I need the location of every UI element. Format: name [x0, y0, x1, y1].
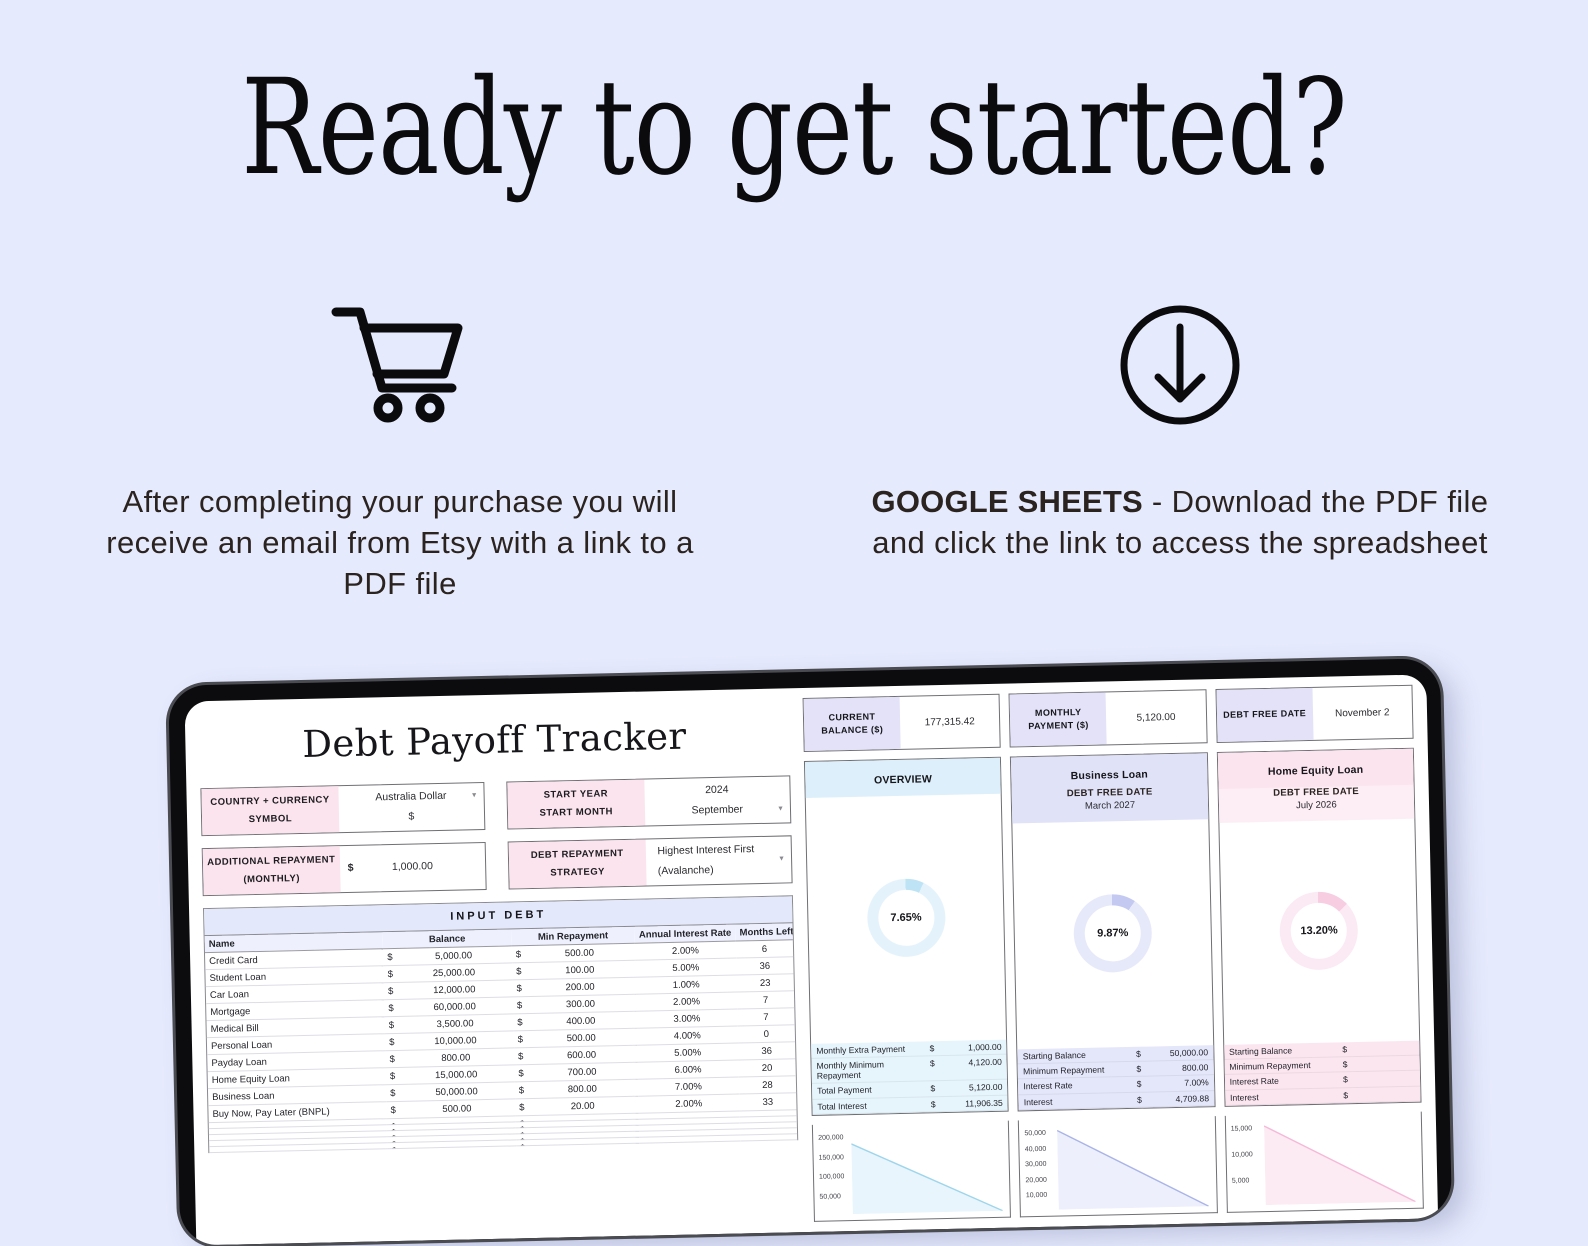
- param-label-line: STRATEGY: [550, 864, 605, 883]
- donut-chart-business-loan: 9.87%: [1013, 819, 1213, 1049]
- feature-column-purchase: After completing your purchase you will …: [90, 290, 710, 605]
- stat-key: Starting Balance: [1229, 1044, 1343, 1056]
- param-country-currency[interactable]: COUNTRY + CURRENCY SYMBOL Australia Doll…: [200, 782, 485, 836]
- cell-months: 6: [736, 940, 793, 958]
- stat-currency: $: [1137, 1094, 1151, 1104]
- y-axis-tick: 150,000: [819, 1154, 844, 1162]
- start-month-select[interactable]: September ▼: [644, 799, 790, 822]
- spreadsheet-right-pane: CURRENT BALANCE ($) 177,315.42 OVERVIEW …: [803, 685, 1424, 1222]
- y-axis-tick: 20,000: [1025, 1177, 1047, 1184]
- cell-months: [740, 1134, 797, 1141]
- kpi-label: CURRENT BALANCE ($): [804, 697, 901, 751]
- stat-currency: $: [930, 1058, 944, 1078]
- stat-key: Starting Balance: [1023, 1049, 1137, 1061]
- feature-column-download: GOOGLE SHEETS - Download the PDF file an…: [860, 290, 1500, 564]
- col-months-left: Months Left: [735, 923, 792, 941]
- dashboard-column-0: CURRENT BALANCE ($) 177,315.42 OVERVIEW …: [803, 694, 1012, 1222]
- stat-value: 7.00%: [1151, 1078, 1209, 1089]
- input-debt-table: INPUT DEBT Name Balance Min Repayment An…: [203, 895, 798, 1153]
- y-axis-tick: 5,000: [1232, 1177, 1250, 1184]
- area-series: [1057, 1120, 1209, 1209]
- stat-currency: $: [1343, 1059, 1357, 1069]
- debt-table-body: Credit Card$5,000.00$500.002.00%6Student…: [205, 940, 797, 1153]
- stat-key: Interest Rate: [1023, 1079, 1137, 1091]
- card-title: Home Equity Loan: [1218, 749, 1414, 789]
- param-row-1: COUNTRY + CURRENCY SYMBOL Australia Doll…: [200, 775, 791, 836]
- page-title: Ready to get started?: [175, 62, 1414, 194]
- stat-row: Interest$: [1225, 1086, 1421, 1106]
- card-business-loan: Business Loan DEBT FREE DATE March 2027 …: [1010, 752, 1215, 1111]
- param-start-date[interactable]: START YEAR START MONTH 2024 September ▼: [506, 775, 791, 829]
- area-series: [851, 1125, 1003, 1214]
- y-axis-tick: 50,000: [819, 1193, 841, 1200]
- stat-value: 800.00: [1150, 1062, 1208, 1073]
- param-values: Australia Dollar ▼ $: [338, 783, 484, 832]
- download-blurb: GOOGLE SHEETS - Download the PDF file an…: [860, 482, 1500, 564]
- kpi-debt-free-date: DEBT FREE DATE November 2: [1215, 685, 1413, 743]
- stat-value: [1357, 1089, 1415, 1100]
- strategy-select[interactable]: Highest Interest First (Avalanche) ▼: [645, 840, 791, 883]
- kpi-value: November 2: [1312, 686, 1413, 740]
- chevron-down-icon: ▼: [777, 803, 784, 816]
- param-label-line: COUNTRY + CURRENCY: [210, 791, 330, 812]
- y-axis-tick: 50,000: [1024, 1130, 1046, 1137]
- card-home-equity-loan: Home Equity Loan DEBT FREE DATE July 202…: [1217, 748, 1422, 1107]
- cell-months: 33: [739, 1093, 796, 1111]
- stat-currency: $: [1136, 1064, 1150, 1074]
- card-header: Business Loan DEBT FREE DATE March 2027: [1011, 753, 1208, 823]
- area-series: [1264, 1116, 1416, 1205]
- area-chart-overview: 200,000150,000100,00050,000: [812, 1121, 1011, 1222]
- stat-currency: $: [931, 1099, 945, 1109]
- cell-months: 7: [737, 991, 794, 1009]
- stat-key: Monthly Extra Payment: [816, 1043, 930, 1055]
- kpi-value: 5,120.00: [1106, 690, 1207, 744]
- area-chart-business-loan: 50,00040,00030,00020,00010,000: [1018, 1116, 1217, 1217]
- spreadsheet-title: Debt Payoff Tracker: [199, 712, 790, 768]
- dashboard-column-1: MONTHLY PAYMENT ($) 5,120.00 Business Lo…: [1009, 689, 1218, 1217]
- stat-key: Minimum Repayment: [1229, 1059, 1343, 1071]
- stat-value: 5,120.00: [944, 1082, 1002, 1093]
- card-overview: OVERVIEW 7.65% Monthly Extra Payment$1,0…: [804, 757, 1009, 1116]
- stat-value: 4,120.00: [944, 1057, 1002, 1078]
- donut-percent: 13.20%: [1279, 891, 1359, 971]
- stat-key: Total Interest: [817, 1099, 931, 1111]
- param-label-line: START MONTH: [539, 803, 613, 823]
- param-values: $ 1,000.00: [339, 843, 485, 892]
- stat-row: Interest$4,709.88: [1019, 1091, 1215, 1111]
- donut: 7.65%: [866, 878, 946, 958]
- param-row-2: ADDITIONAL REPAYMENT (MONTHLY) $ 1,000.0…: [202, 835, 793, 896]
- stat-currency: $: [930, 1083, 944, 1093]
- kpi-current-balance: CURRENT BALANCE ($) 177,315.42: [803, 694, 1001, 752]
- cell-min-repayment: $: [516, 1137, 639, 1146]
- param-label: START YEAR START MONTH: [507, 780, 645, 829]
- param-label-line: DEBT REPAYMENT: [531, 845, 624, 865]
- cell-months: 36: [736, 957, 793, 975]
- spreadsheet-left-pane: Debt Payoff Tracker COUNTRY + CURRENCY S…: [199, 698, 800, 1235]
- donut-percent: 7.65%: [866, 878, 946, 958]
- area-chart-home-equity-loan: 15,00010,0005,000: [1224, 1112, 1423, 1213]
- stat-key: Interest: [1024, 1095, 1138, 1107]
- y-axis-tick: 30,000: [1025, 1161, 1047, 1168]
- param-label: DEBT REPAYMENT STRATEGY: [509, 840, 647, 889]
- kpi-monthly-payment: MONTHLY PAYMENT ($) 5,120.00: [1009, 689, 1207, 747]
- y-axis-tick: 10,000: [1231, 1151, 1253, 1158]
- param-label-line: SYMBOL: [248, 810, 292, 829]
- purchase-blurb: After completing your purchase you will …: [90, 482, 710, 605]
- donut-chart-home-equity-loan: 13.20%: [1219, 819, 1419, 1045]
- param-label: COUNTRY + CURRENCY SYMBOL: [201, 786, 339, 835]
- stat-key: Interest Rate: [1230, 1075, 1344, 1087]
- kpi-label: DEBT FREE DATE: [1216, 688, 1313, 742]
- donut: 9.87%: [1073, 893, 1153, 973]
- dashboard-column-2: DEBT FREE DATE November 2 Home Equity Lo…: [1215, 685, 1424, 1213]
- tablet-screen: Debt Payoff Tracker COUNTRY + CURRENCY S…: [184, 674, 1438, 1245]
- feature-columns: After completing your purchase you will …: [0, 290, 1588, 620]
- shopping-cart-icon: [90, 290, 710, 440]
- param-label-line: (MONTHLY): [243, 870, 300, 889]
- stat-key: Monthly Minimum Repayment: [816, 1058, 930, 1080]
- stat-currency: $: [929, 1043, 943, 1053]
- cell-months: 0: [738, 1025, 795, 1043]
- donut-percent: 9.87%: [1073, 893, 1153, 973]
- cell-rate: [639, 1135, 740, 1143]
- cell-months: 28: [739, 1076, 796, 1094]
- param-label-line: ADDITIONAL REPAYMENT: [207, 851, 335, 872]
- stat-currency: $: [1137, 1079, 1151, 1089]
- stat-currency: $: [1343, 1074, 1357, 1084]
- param-additional-repayment[interactable]: ADDITIONAL REPAYMENT (MONTHLY) $ 1,000.0…: [202, 842, 487, 896]
- card-stats: Starting Balance$50,000.00Minimum Repaym…: [1018, 1045, 1215, 1111]
- cell-months: 36: [738, 1042, 795, 1060]
- y-axis-tick: 10,000: [1026, 1192, 1048, 1199]
- card-header: Home Equity Loan DEBT FREE DATE July 202…: [1218, 749, 1415, 823]
- tablet-device-mockup: Debt Payoff Tracker COUNTRY + CURRENCY S…: [168, 658, 1452, 1246]
- param-label: ADDITIONAL REPAYMENT (MONTHLY): [203, 846, 341, 895]
- stat-currency: $: [1343, 1090, 1357, 1100]
- chevron-down-icon: ▼: [778, 853, 785, 866]
- stat-key: Interest: [1230, 1090, 1344, 1102]
- param-values: Highest Interest First (Avalanche) ▼: [645, 836, 791, 885]
- stat-value: 50,000.00: [1150, 1047, 1208, 1058]
- stat-value: 1,000.00: [943, 1041, 1001, 1052]
- donut-chart-overview: 7.65%: [806, 794, 1007, 1044]
- card-stats: Monthly Extra Payment$1,000.00Monthly Mi…: [811, 1039, 1008, 1115]
- kpi-label: MONTHLY PAYMENT ($): [1010, 692, 1107, 746]
- card-title: Business Loan: [1011, 753, 1207, 789]
- download-blurb-bold: GOOGLE SHEETS: [872, 484, 1143, 519]
- y-axis-tick: 40,000: [1025, 1145, 1047, 1152]
- stat-value: 11,906.35: [945, 1098, 1003, 1109]
- stat-value: [1356, 1042, 1414, 1053]
- stat-currency: $: [1342, 1044, 1356, 1054]
- card-stats: Starting Balance$Minimum Repayment$Inter…: [1224, 1040, 1421, 1106]
- y-axis-tick: 100,000: [819, 1173, 844, 1181]
- y-axis-tick: 200,000: [818, 1134, 843, 1142]
- stat-value: [1357, 1058, 1415, 1069]
- stat-key: Total Payment: [817, 1084, 931, 1096]
- param-label-line: START YEAR: [544, 785, 609, 804]
- param-debt-strategy[interactable]: DEBT REPAYMENT STRATEGY Highest Interest…: [508, 835, 793, 889]
- stat-key: Minimum Repayment: [1023, 1064, 1137, 1076]
- debt-table: Name Balance Min Repayment Annual Intere…: [205, 923, 798, 1153]
- kpi-value: 177,315.42: [899, 695, 1000, 749]
- cell-months: 20: [738, 1059, 795, 1077]
- y-axis-tick: 15,000: [1231, 1125, 1253, 1132]
- card-title: OVERVIEW: [805, 758, 1001, 798]
- symbol-value: $: [338, 806, 484, 829]
- stat-row: Total Interest$11,906.35: [812, 1095, 1008, 1115]
- download-circle-icon: [860, 290, 1500, 440]
- stat-value: [1357, 1073, 1415, 1084]
- stat-currency: $: [1136, 1048, 1150, 1058]
- donut: 13.20%: [1279, 891, 1359, 971]
- additional-repayment-input[interactable]: $ 1,000.00: [340, 856, 486, 879]
- param-values: 2024 September ▼: [644, 776, 790, 825]
- chevron-down-icon: ▼: [471, 790, 478, 803]
- cell-months: 23: [737, 974, 794, 992]
- cell-months: 7: [737, 1008, 794, 1026]
- stat-value: 4,709.88: [1151, 1093, 1209, 1104]
